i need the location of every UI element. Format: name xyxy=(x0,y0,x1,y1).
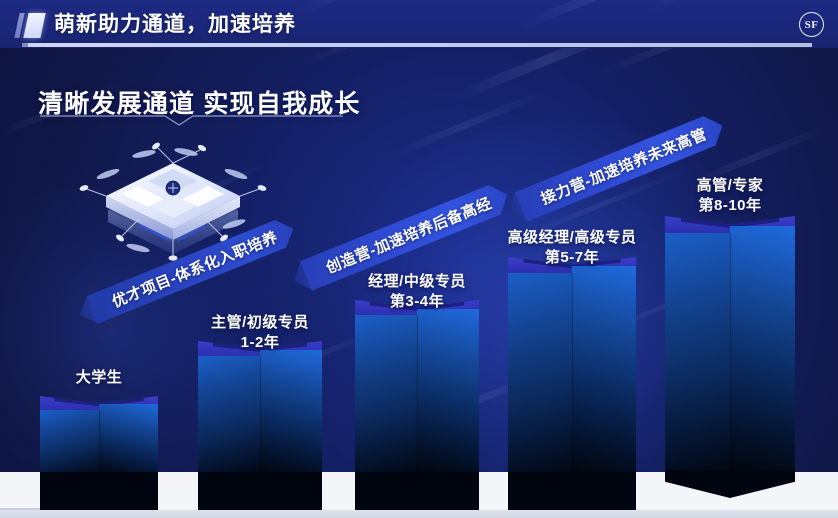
stage-years-5: 第8-10年 xyxy=(655,196,805,216)
title-bar: 萌新助力通道，加速培养 SF xyxy=(0,0,838,48)
pillar-right-face xyxy=(260,350,322,476)
stage-title-5: 高管/专家 xyxy=(655,176,805,196)
stage-title-4: 高级经理/高级专员 xyxy=(490,228,654,248)
pillar-foot-4 xyxy=(508,472,636,510)
streak xyxy=(648,0,790,11)
bottom-edge xyxy=(0,510,838,518)
stage-years-2: 1-2年 xyxy=(188,333,332,353)
pillar-seam xyxy=(260,356,261,476)
pillar-seam xyxy=(417,315,418,476)
stage-title-2: 主管/初级专员 xyxy=(188,313,332,333)
streak xyxy=(518,0,707,31)
pillar-left-face xyxy=(665,233,730,474)
stage-label-4: 高级经理/高级专员 第5-7年 xyxy=(490,228,654,268)
slide-canvas: 萌新助力通道，加速培养 SF 清晰发展通道 实现自我成长 xyxy=(0,0,838,518)
title-underline xyxy=(28,43,812,47)
pillar-stage-2 xyxy=(198,341,322,476)
pillar-stage-1 xyxy=(40,396,158,476)
stage-years-4: 第5-7年 xyxy=(490,248,654,268)
pillar-left-face xyxy=(355,315,417,476)
pillar-stage-4 xyxy=(508,257,636,476)
pillar-foot-1 xyxy=(40,472,158,510)
sf-logo-icon: SF xyxy=(799,12,824,37)
pillar-foot-2 xyxy=(198,472,322,510)
stage-label-2: 主管/初级专员 1-2年 xyxy=(188,313,332,353)
pillar-seam xyxy=(99,410,100,476)
stage-title-3: 经理/中级专员 xyxy=(345,272,489,292)
streak xyxy=(394,90,545,156)
pillar-left-face xyxy=(40,410,99,476)
pillar-seam xyxy=(572,273,573,476)
stage-label-1: 大学生 xyxy=(40,368,158,388)
streak xyxy=(298,0,459,15)
pillar-seam xyxy=(730,233,731,474)
pillar-stage-5 xyxy=(665,216,795,474)
pillar-stage-3 xyxy=(355,300,479,476)
pillar-foot-3 xyxy=(355,472,479,510)
pillar-right-face xyxy=(730,226,795,474)
pillar-right-face xyxy=(417,309,479,476)
pillar-right-face xyxy=(572,266,636,476)
stage-label-3: 经理/中级专员 第3-4年 xyxy=(345,272,489,312)
page-title: 萌新助力通道，加速培养 xyxy=(54,10,296,40)
stage-label-5: 高管/专家 第8-10年 xyxy=(655,176,805,216)
pillar-left-face xyxy=(508,273,572,476)
pillar-left-face xyxy=(198,356,260,476)
stage-title-1: 大学生 xyxy=(40,368,158,388)
pillar-right-face xyxy=(99,404,158,476)
headline: 清晰发展通道 实现自我成长 xyxy=(38,84,361,120)
title-accent-bar-icon xyxy=(23,13,45,38)
stage-years-3: 第3-4年 xyxy=(345,292,489,312)
